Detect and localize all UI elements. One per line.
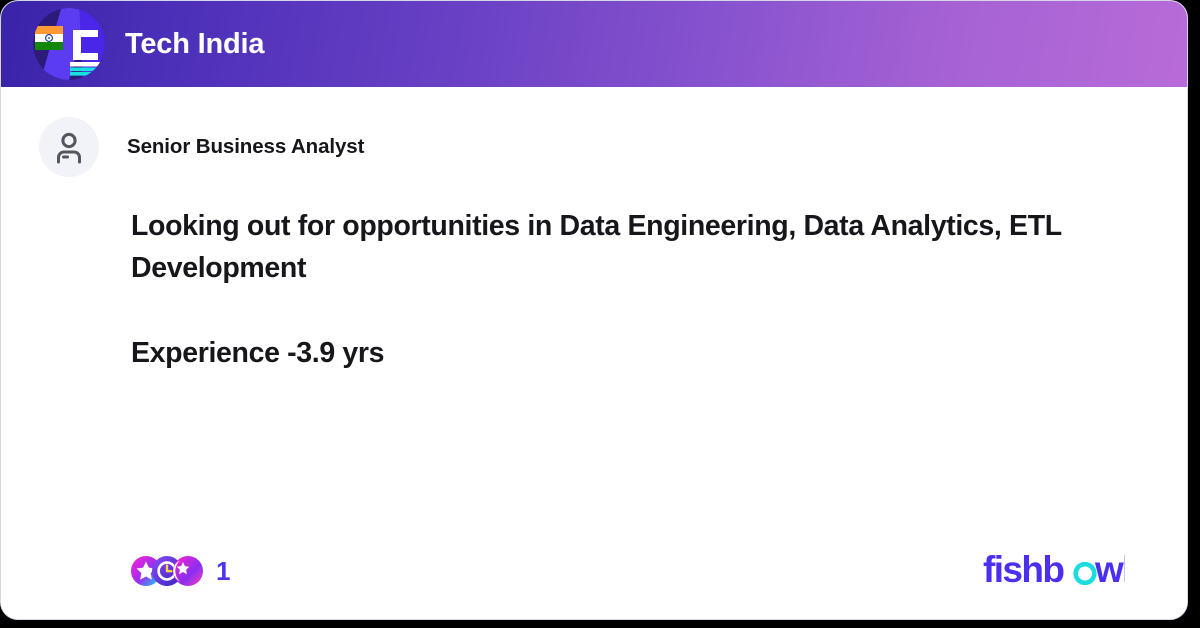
card-footer: 1 fishb wl (1, 523, 1187, 619)
post-card: Tech India Senior Business Analyst Looki… (0, 0, 1188, 620)
person-icon (52, 130, 86, 164)
card-body: Senior Business Analyst Looking out for … (1, 87, 1187, 619)
avatar[interactable] (39, 117, 99, 177)
crescent-star-reaction-icon (173, 556, 203, 586)
fishbowl-text-part-1: fishb (983, 549, 1064, 590)
crescent-reaction-svg (173, 556, 203, 586)
reaction-stack (131, 556, 203, 586)
group-logo-svg (33, 8, 105, 80)
fishbowl-o-ring-icon (1076, 564, 1095, 583)
fishbowl-text-part-2: wl (1094, 549, 1125, 590)
post-content: Looking out for opportunities in Data En… (1, 177, 1187, 374)
reaction-count: 1 (216, 556, 230, 587)
group-name: Tech India (125, 28, 264, 61)
fishbowl-wordmark-svg: fishb wl (983, 549, 1125, 593)
post-paragraph: Experience -3.9 yrs (131, 332, 1127, 374)
author-row: Senior Business Analyst (1, 87, 1187, 177)
post-paragraph: Looking out for opportunities in Data En… (131, 205, 1127, 290)
tech-india-group-logo[interactable] (33, 8, 105, 80)
author-title: Senior Business Analyst (127, 135, 364, 159)
reactions-group[interactable]: 1 (131, 556, 230, 587)
card-header: Tech India (1, 1, 1187, 87)
fishbowl-logo[interactable]: fishb wl (983, 549, 1125, 593)
